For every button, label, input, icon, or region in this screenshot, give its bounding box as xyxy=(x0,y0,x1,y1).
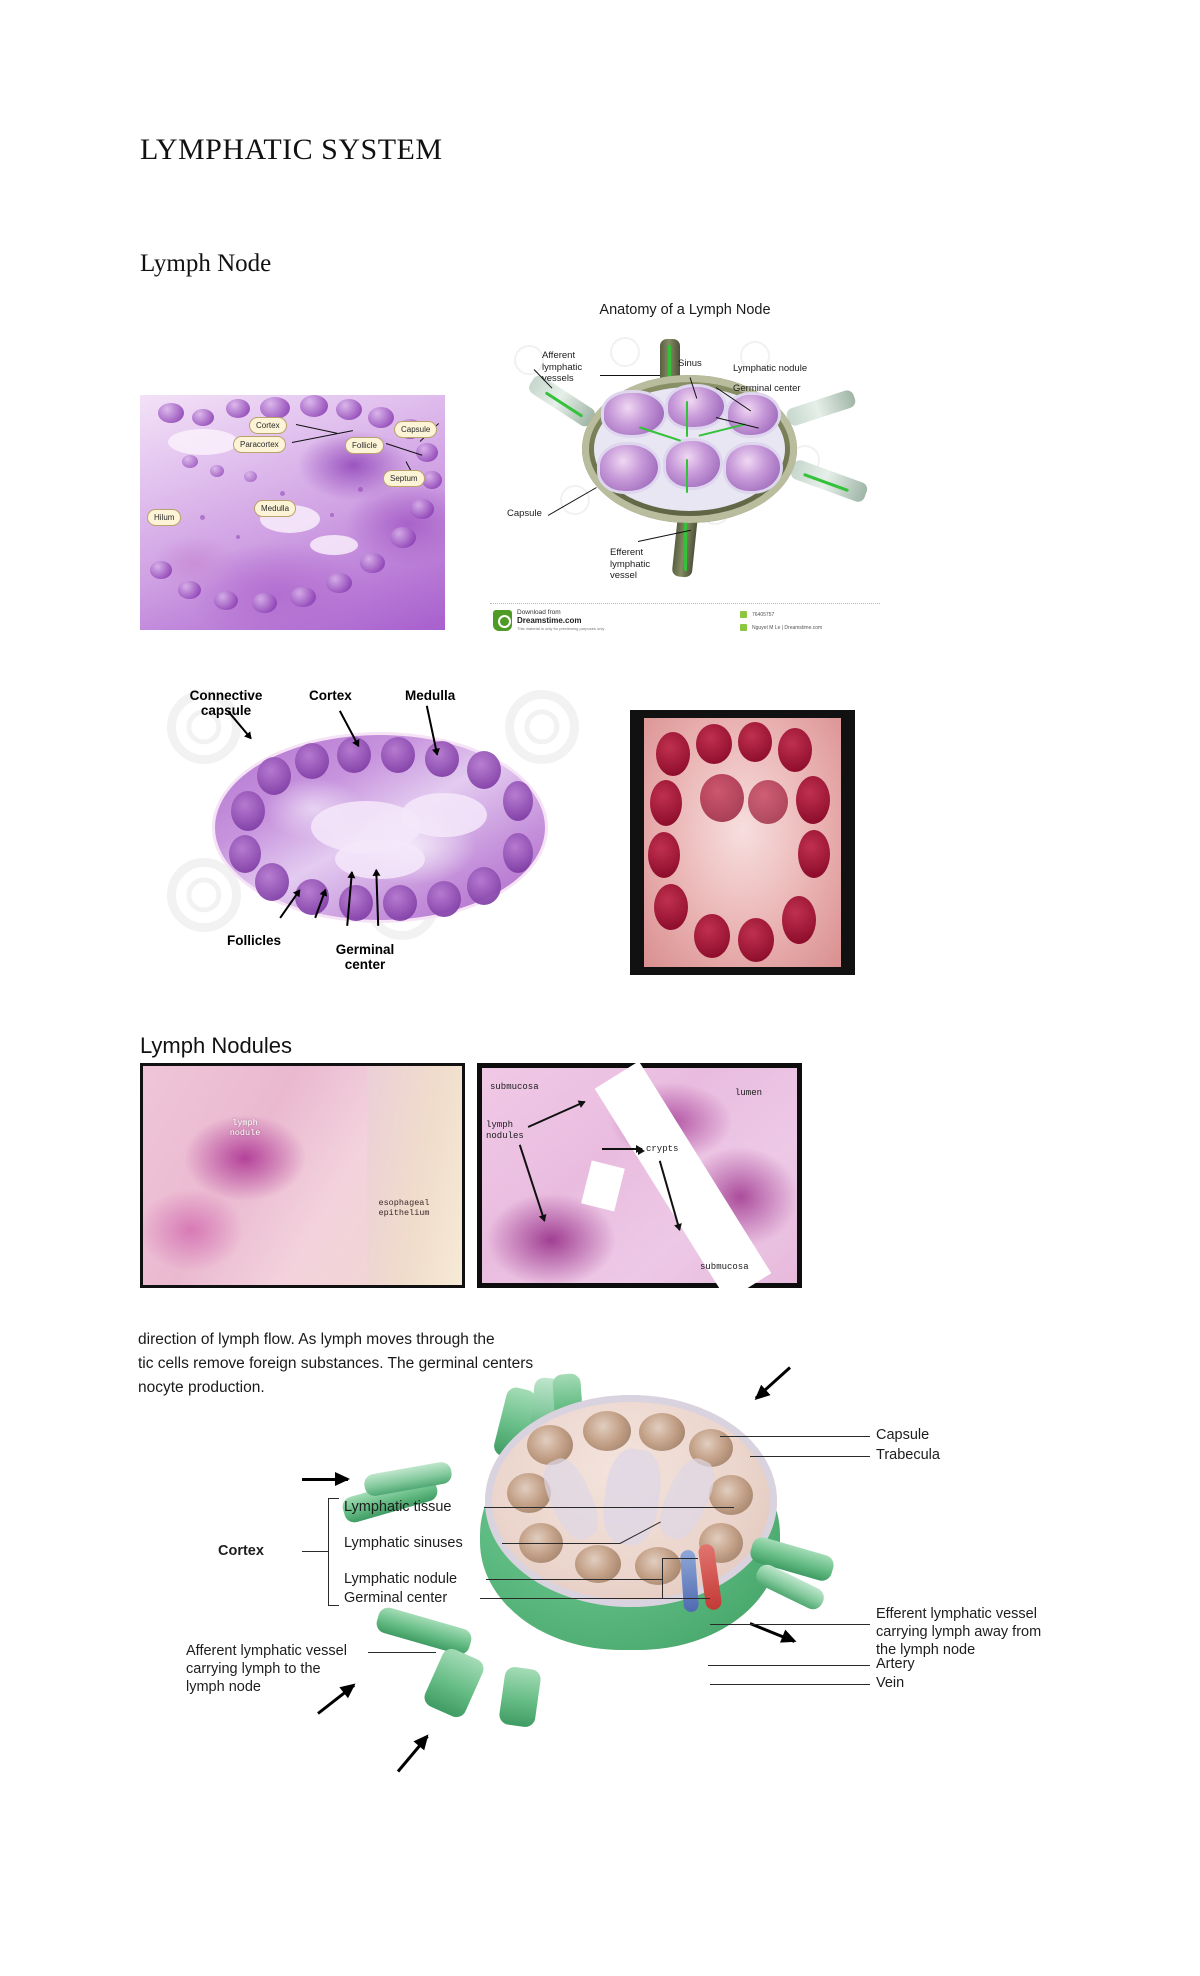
epithelium-line-2: epithelium xyxy=(361,1208,447,1218)
callout-paracortex: Paracortex xyxy=(233,436,286,453)
figure-lymph-nodules-gut: submucosa lymph nodules crypts lumen sub… xyxy=(477,1063,802,1288)
afferent-line-1: Afferent lymphatic vessel xyxy=(186,1642,376,1660)
label-submucosa-bottom: submucosa xyxy=(700,1262,749,1273)
germinal-center-line-1: Germinal xyxy=(313,942,417,957)
esophagus-slide: lymph nodule esophageal epithelium xyxy=(143,1066,462,1285)
watermark-image-id: 76405757 xyxy=(752,612,774,618)
watermark-credit: Nguyet M Le | Dreamstime.com xyxy=(752,625,822,631)
efferent-line-2: carrying lymph away from xyxy=(876,1623,1041,1641)
label-afferent-lymphatic-vessels: Afferent lymphatic vessels xyxy=(542,350,582,385)
lymph-flow-arrow-left xyxy=(302,1478,348,1481)
lymph-nodules-line-2: nodules xyxy=(486,1131,524,1142)
label-lymphatic-sinuses: Lymphatic sinuses xyxy=(344,1534,463,1552)
lymph-nodules-line-1: lymph xyxy=(486,1120,524,1131)
esophageal-epithelium-region xyxy=(367,1066,462,1285)
efferent-line-1: Efferent lymphatic vessel xyxy=(876,1605,1041,1623)
callout-follicle: Follicle xyxy=(345,437,384,454)
label-efferent-lymphatic-vessel: Efferent lymphatic vessel carrying lymph… xyxy=(876,1605,1041,1659)
label-crypts: crypts xyxy=(646,1144,678,1155)
afferent-line-3: lymph node xyxy=(186,1678,376,1696)
label-germinal-center: Germinal center xyxy=(313,942,417,972)
callout-medulla: Medulla xyxy=(254,500,296,517)
afferent-line-1: Afferent xyxy=(542,350,582,362)
label-germinal-center: Germinal center xyxy=(344,1589,447,1607)
label-lymphatic-nodule: Lymphatic nodule xyxy=(733,363,807,375)
watermark-line-3: This material is only for previewing pur… xyxy=(517,626,697,631)
lymph-nodule-line-1: lymph xyxy=(215,1118,275,1128)
label-lymphatic-nodule: Lymphatic nodule xyxy=(344,1570,457,1588)
connective-capsule-line-1: Connective xyxy=(167,688,285,703)
label-connective-capsule: Connective capsule xyxy=(167,688,285,718)
lymph-nodule-line-2: nodule xyxy=(215,1128,275,1138)
label-lymphatic-tissue: Lymphatic tissue xyxy=(344,1498,451,1516)
figure-anatomy-of-a-lymph-node: Anatomy of a Lymph Node xyxy=(490,295,880,640)
red-stain-slide xyxy=(644,718,841,967)
watermark-chip-icon-2 xyxy=(740,624,747,631)
watermark-line-1: Download from xyxy=(517,609,561,616)
crypt-region xyxy=(581,1161,625,1212)
figure-lymph-node-3d-labeled: Capsule Trabecula Efferent lymphatic ves… xyxy=(150,1300,1160,1820)
section-heading-lymph-nodules: Lymph Nodules xyxy=(140,1033,292,1059)
label-efferent-lymphatic-vessel: Efferent lymphatic vessel xyxy=(610,547,650,582)
figure-lymph-nodule-esophagus: lymph nodule esophageal epithelium xyxy=(140,1063,465,1288)
label-capsule: Capsule xyxy=(507,508,542,520)
label-follicles: Follicles xyxy=(227,933,281,948)
dreamstime-watermark-bar: Download from Dreamstime.com This materi… xyxy=(490,603,880,640)
gut-slide: submucosa lymph nodules crypts lumen sub… xyxy=(482,1068,797,1283)
germinal-center-line-2: center xyxy=(313,957,417,972)
label-lymph-nodules: lymph nodules xyxy=(486,1120,524,1142)
afferent-line-2: carrying lymph to the xyxy=(186,1660,376,1678)
figure-lymph-node-histology-callouts: Cortex Paracortex Follicle Capsule Septu… xyxy=(140,395,445,630)
efferent-line-2: lymphatic xyxy=(610,559,650,571)
label-submucosa-top: submucosa xyxy=(490,1082,539,1093)
histology-slide xyxy=(215,735,545,920)
label-capsule: Capsule xyxy=(876,1426,929,1444)
label-medulla: Medulla xyxy=(405,688,455,703)
label-lymph-nodule: lymph nodule xyxy=(215,1118,275,1138)
page-title: LYMPHATIC SYSTEM xyxy=(140,133,443,167)
lymph-node-cut-surface xyxy=(485,1395,777,1607)
callout-septum: Septum xyxy=(383,470,425,487)
label-esophageal-epithelium: esophageal epithelium xyxy=(361,1198,447,1218)
watermark-chip-icon-1 xyxy=(740,611,747,618)
figure-lymph-node-red-stain xyxy=(630,710,855,975)
lymph-flow-arrow-right xyxy=(749,1622,795,1643)
document-page: LYMPHATIC SYSTEM Lymph Node Lymph Nodule… xyxy=(0,0,1200,1976)
figure-title: Anatomy of a Lymph Node xyxy=(490,302,880,318)
dreamstime-logo-icon xyxy=(493,610,512,631)
afferent-line-3: vessels xyxy=(542,373,582,385)
callout-capsule: Capsule xyxy=(394,421,437,438)
label-lumen: lumen xyxy=(735,1088,762,1099)
callout-cortex: Cortex xyxy=(249,417,287,434)
callout-hilum: Hilum xyxy=(147,509,181,526)
section-heading-lymph-node: Lymph Node xyxy=(140,250,271,278)
label-germinal-center: Germinal center xyxy=(733,383,801,395)
label-artery: Artery xyxy=(876,1655,915,1673)
label-sinus: Sinus xyxy=(678,358,702,370)
lymph-flow-arrow-top xyxy=(755,1366,791,1399)
epithelium-line-1: esophageal xyxy=(361,1198,447,1208)
lymph-flow-arrow-bottom xyxy=(397,1735,429,1772)
efferent-line-1: Efferent xyxy=(610,547,650,559)
label-cortex: Cortex xyxy=(309,688,352,703)
afferent-line-2: lymphatic xyxy=(542,362,582,374)
watermark-line-2: Dreamstime.com xyxy=(517,616,581,625)
label-vein: Vein xyxy=(876,1674,904,1692)
label-cortex: Cortex xyxy=(218,1542,264,1560)
connective-capsule-line-2: capsule xyxy=(167,703,285,718)
figure-lymph-node-histology-bold-labels: Connective capsule Cortex Medulla Follic… xyxy=(165,680,590,980)
efferent-line-3: vessel xyxy=(610,570,650,582)
label-trabecula: Trabecula xyxy=(876,1446,940,1464)
cortex-bracket xyxy=(328,1498,339,1606)
label-afferent-lymphatic-vessel: Afferent lymphatic vessel carrying lymph… xyxy=(186,1642,376,1696)
